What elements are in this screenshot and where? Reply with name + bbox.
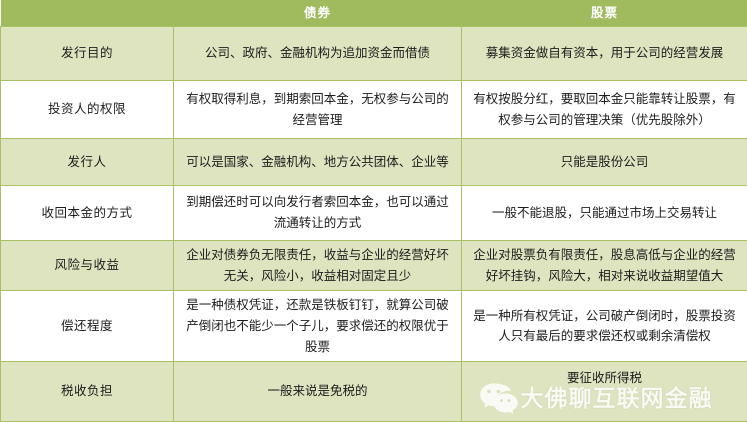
- cell-stock-issuer: 只能是股份公司: [462, 139, 747, 186]
- header-cell-stock: 股票: [462, 0, 747, 27]
- row-label-issuance-purpose: 发行目的: [1, 27, 174, 81]
- cell-stock-investor-rights: 有权按股分红，要取回本金只能靠转让股票，有权参与公司的管理决策（优先股除外）: [462, 81, 747, 139]
- bond-vs-stock-comparison-table: 债券 股票 发行目的 公司、政府、金融机构为追加资金而借债 募集资金做自有资本，…: [0, 0, 747, 422]
- cell-stock-tax-burden: 要征收所得税 大佛聊互联网金融: [462, 362, 747, 422]
- cell-bond-risk-and-return: 企业对债券负无限责任，收益与企业的经营好坏无关，风险小，收益相对固定且少: [174, 241, 462, 291]
- cell-stock-issuance-purpose: 募集资金做自有资本，用于公司的经营发展: [462, 27, 747, 81]
- table-row: 投资人的权限 有权取得利息，到期索回本金，无权参与公司的经营管理 有权按股分红，…: [1, 81, 747, 139]
- cell-stock-principal-recovery: 一般不能退股，只能通过市场上交易转让: [462, 186, 747, 241]
- table-row: 发行人 可以是国家、金融机构、地方公共团体、企业等 只能是股份公司: [1, 139, 747, 186]
- cell-bond-issuance-purpose: 公司、政府、金融机构为追加资金而借债: [174, 27, 462, 81]
- cell-stock-risk-and-return: 企业对股票负有限责任，股息高低与企业的经营好坏挂钩，风险大，相对来说收益期望值大: [462, 241, 747, 291]
- row-label-issuer: 发行人: [1, 139, 174, 186]
- header-cell-blank: [1, 0, 174, 27]
- table-body: 发行目的 公司、政府、金融机构为追加资金而借债 募集资金做自有资本，用于公司的经…: [1, 27, 747, 422]
- table-row: 税收负担 一般来说是免税的 要征收所得税 大: [1, 362, 747, 422]
- table-row: 收回本金的方式 到期偿还时可以向发行者索回本金，也可以通过流通转让的方式 一般不…: [1, 186, 747, 241]
- watermark-account-name: 大佛聊互联网金融: [521, 388, 713, 411]
- cell-bond-tax-burden: 一般来说是免税的: [174, 362, 462, 422]
- cell-stock-repayment-priority: 是一种所有权凭证，公司破产倒闭时，股票投资人只有最后的要求偿还权或剩余清偿权: [462, 291, 747, 362]
- row-label-repayment-priority: 偿还程度: [1, 291, 174, 362]
- table-header: 债券 股票: [1, 0, 747, 27]
- cell-bond-investor-rights: 有权取得利息，到期索回本金，无权参与公司的经营管理: [174, 81, 462, 139]
- wechat-icon: [479, 382, 519, 416]
- row-label-tax-burden: 税收负担: [1, 362, 174, 422]
- cell-bond-principal-recovery: 到期偿还时可以向发行者索回本金，也可以通过流通转让的方式: [174, 186, 462, 241]
- row-label-principal-recovery: 收回本金的方式: [1, 186, 174, 241]
- row-label-risk-and-return: 风险与收益: [1, 241, 174, 291]
- row-label-investor-rights: 投资人的权限: [1, 81, 174, 139]
- table-header-row: 债券 股票: [1, 0, 747, 27]
- table-row: 偿还程度 是一种债权凭证，还款是铁板钉钉，就算公司破产倒闭也不能少一个子儿，要求…: [1, 291, 747, 362]
- cell-bond-issuer: 可以是国家、金融机构、地方公共团体、企业等: [174, 139, 462, 186]
- table-row: 风险与收益 企业对债券负无限责任，收益与企业的经营好坏无关，风险小，收益相对固定…: [1, 241, 747, 291]
- cell-bond-repayment-priority: 是一种债权凭证，还款是铁板钉钉，就算公司破产倒闭也不能少一个子儿，要求偿还的权限…: [174, 291, 462, 362]
- cell-stock-tax-burden-text: 要征收所得税: [567, 370, 642, 385]
- table-row: 发行目的 公司、政府、金融机构为追加资金而借债 募集资金做自有资本，用于公司的经…: [1, 27, 747, 81]
- wechat-watermark: 大佛聊互联网金融: [479, 379, 731, 419]
- header-cell-bond: 债券: [174, 0, 462, 27]
